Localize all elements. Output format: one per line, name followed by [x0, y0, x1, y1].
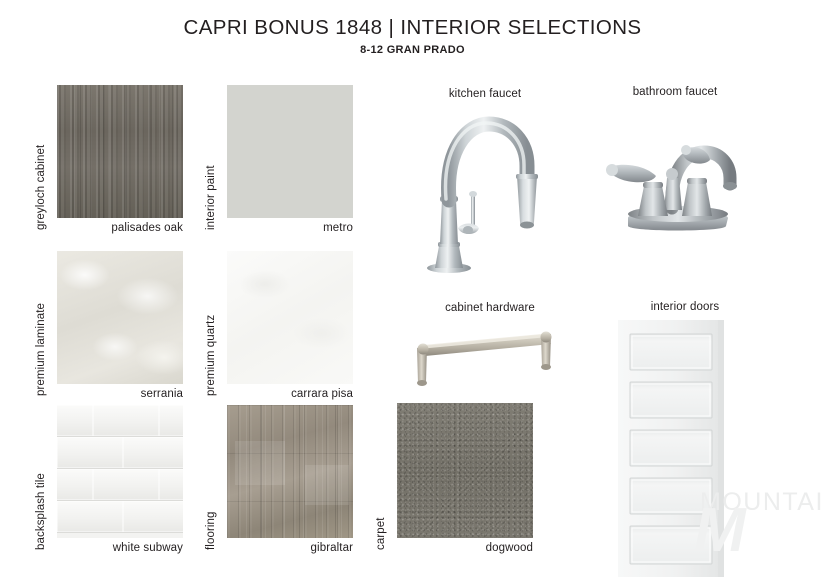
selection-product-backsplash: white subway [33, 542, 183, 554]
selection-product-flooring: gibraltar [203, 542, 353, 554]
five-panel-door-icon[interactable] [618, 320, 724, 582]
selection-category-backsplash: backsplash tile [35, 473, 47, 550]
swatch-backsplash-tile[interactable] [57, 405, 183, 538]
selection-category-cabinet: greyloch cabinet [35, 145, 47, 230]
selection-product-paint: metro [203, 222, 353, 234]
kitchen-faucet-icon[interactable] [415, 104, 555, 299]
selection-product-quartz: carrara pisa [203, 388, 353, 400]
selection-category-quartz: premium quartz [205, 315, 217, 396]
fixture-label-interior-doors: interior doors [600, 301, 770, 313]
swatch-premium-quartz[interactable] [227, 251, 353, 384]
fixture-label-kitchen-faucet: kitchen faucet [400, 88, 570, 100]
swatch-carpet[interactable] [397, 403, 533, 538]
selection-product-laminate: serrania [33, 388, 183, 400]
swatch-interior-paint[interactable] [227, 85, 353, 218]
swatch-flooring[interactable] [227, 405, 353, 538]
selection-product-cabinet: palisades oak [33, 222, 183, 234]
bar-pull-handle-icon[interactable] [405, 326, 565, 397]
swatch-premium-laminate[interactable] [57, 251, 183, 384]
bathroom-faucet-icon[interactable] [600, 108, 770, 248]
selection-product-carpet: dogwood [373, 542, 533, 554]
selection-category-laminate: premium laminate [35, 303, 47, 396]
selection-flooring: flooring gibraltar [0, 0, 126, 133]
selection-category-paint: interior paint [205, 165, 217, 230]
fixture-label-cabinet-hardware: cabinet hardware [400, 302, 580, 314]
fixture-label-bathroom-faucet: bathroom faucet [590, 86, 760, 98]
